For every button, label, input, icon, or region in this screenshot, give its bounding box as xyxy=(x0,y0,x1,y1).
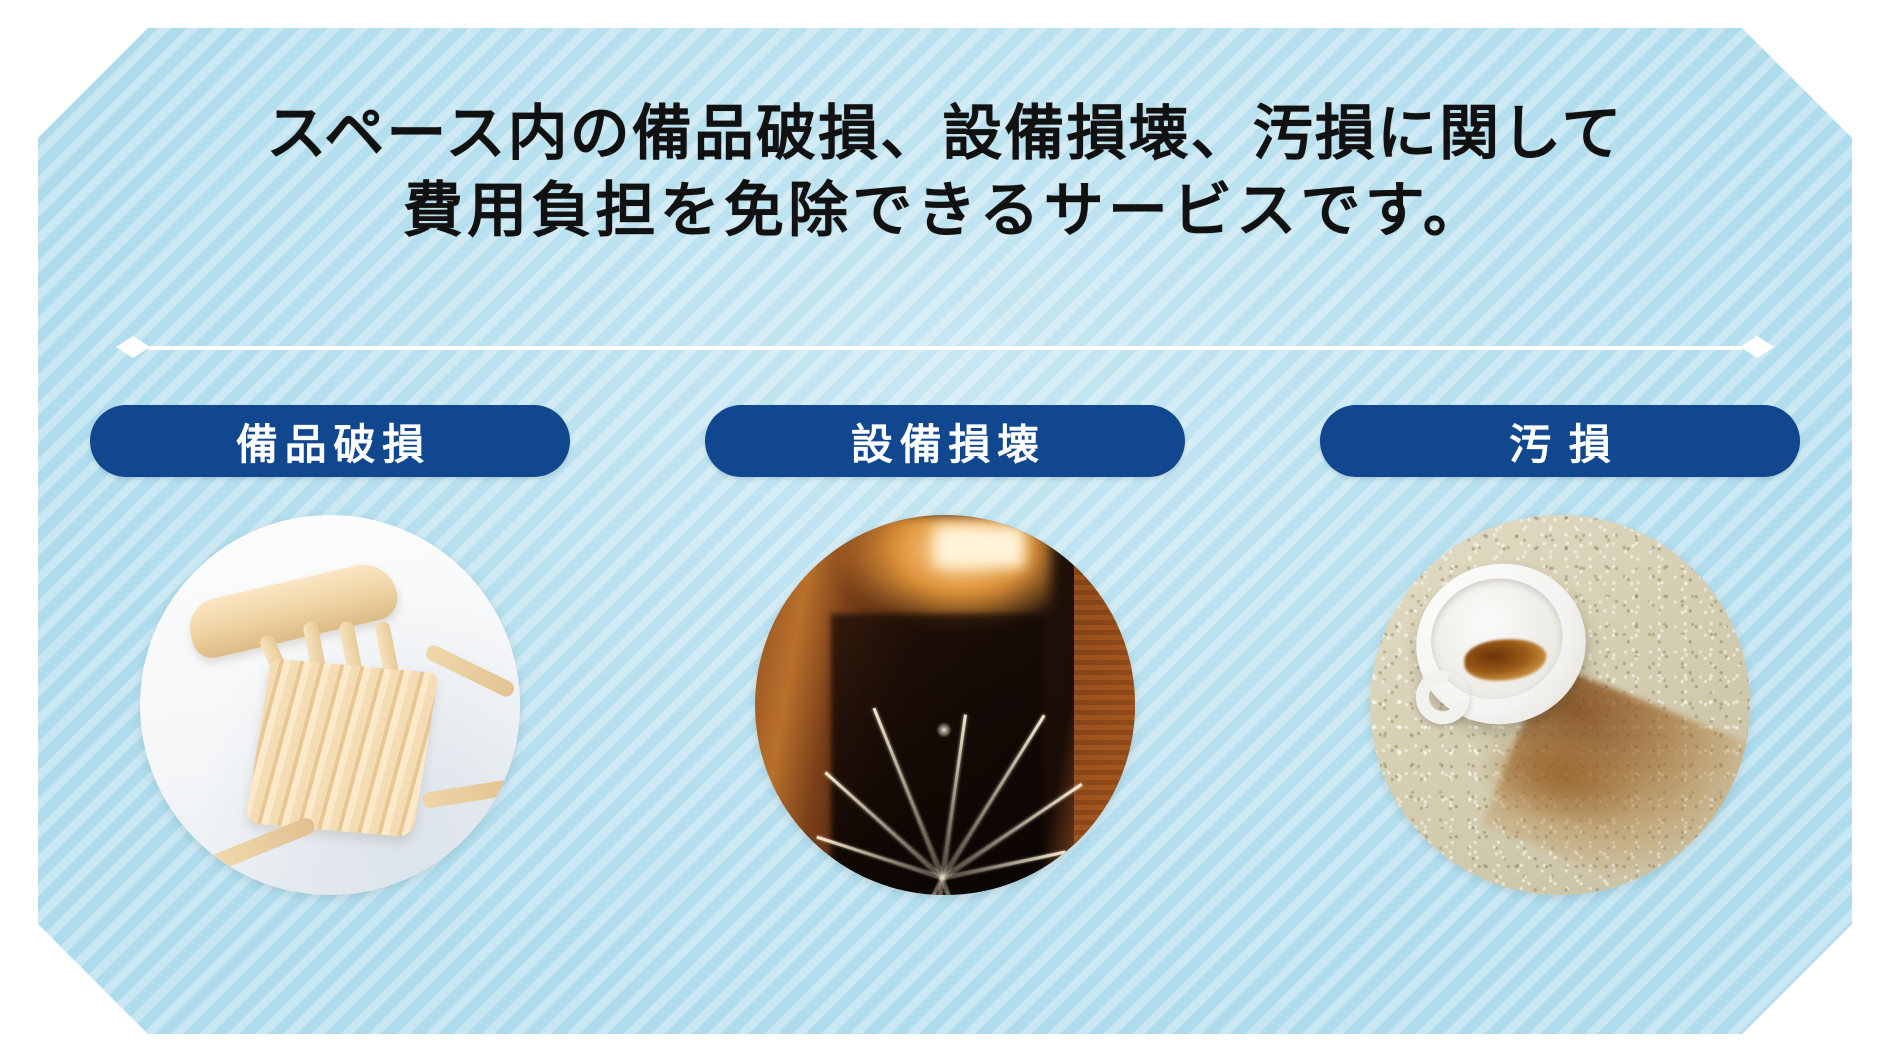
coffee-stain-on-carpet-image xyxy=(1370,515,1750,895)
chair-leg xyxy=(423,643,516,699)
window-wood-frame xyxy=(1074,515,1135,895)
cracked-glass-window-image xyxy=(755,515,1135,895)
divider xyxy=(130,345,1760,351)
heading-line-2: 費用負担を免除できるサービスです。 xyxy=(0,173,1890,250)
badge-stain[interactable]: 汚損 xyxy=(1320,405,1800,477)
category-column-equipment-damage: 備品破損 xyxy=(90,405,570,895)
chair-leg xyxy=(421,777,520,809)
chair-backrest xyxy=(184,558,402,662)
chair-seat xyxy=(245,659,438,838)
badge-facility-damage[interactable]: 設備損壊 xyxy=(705,405,1185,477)
cup-coffee-residue xyxy=(1463,639,1546,683)
photo-broken-chair xyxy=(140,515,520,895)
broken-wooden-chair-image xyxy=(140,515,520,895)
page-title: スペース内の備品破損、設備損壊、汚損に関して 費用負担を免除できるサービスです。 xyxy=(0,96,1890,250)
badge-equipment-damage[interactable]: 備品破損 xyxy=(90,405,570,477)
photo-cracked-glass xyxy=(755,515,1135,895)
glass-impact-point xyxy=(936,722,952,738)
photo-coffee-stain xyxy=(1370,515,1750,895)
heading-line-1: スペース内の備品破損、設備損壊、汚損に関して xyxy=(0,96,1890,173)
category-columns: 備品破損 設備損壊 xyxy=(90,405,1800,895)
category-column-stain: 汚損 xyxy=(1320,405,1800,895)
category-column-facility-damage: 設備損壊 xyxy=(705,405,1185,895)
slide-root: スペース内の備品破損、設備損壊、汚損に関して 費用負担を免除できるサービスです。… xyxy=(0,0,1890,1063)
window-highlight xyxy=(934,526,1025,568)
chair-leg xyxy=(201,816,317,876)
divider-bar xyxy=(148,346,1742,350)
